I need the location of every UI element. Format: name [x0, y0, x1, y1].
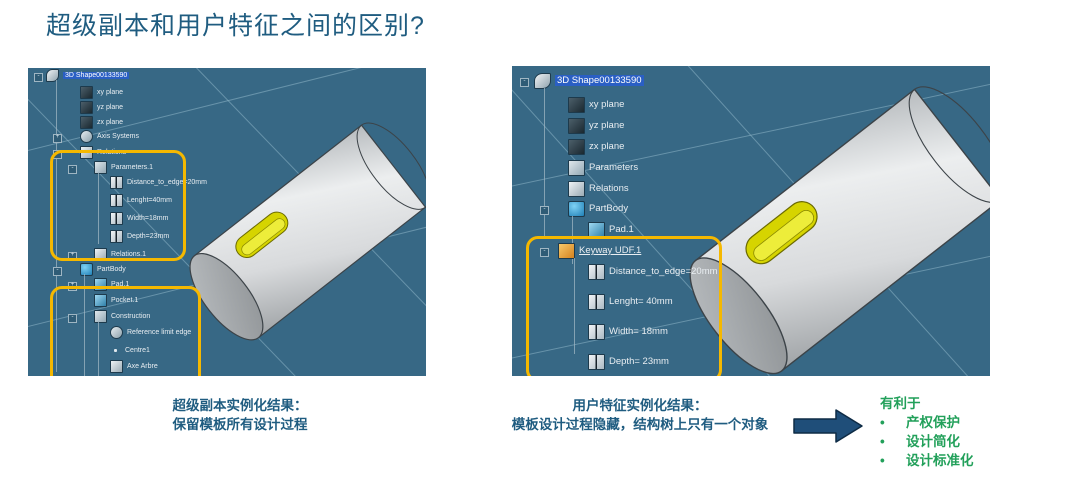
tree-item-label: Pocket.1	[111, 297, 138, 304]
tree-item-lenght[interactable]: Lenght=40mm	[110, 194, 172, 206]
tree-item-label: Width= 18mm	[609, 326, 668, 337]
tree-item-label: Parameters	[589, 162, 638, 173]
sketch-icon	[110, 376, 123, 377]
expand-toggle[interactable]: -	[68, 314, 77, 323]
tree-item-partbody[interactable]: PartBody	[568, 201, 628, 216]
tree-connector	[98, 172, 99, 244]
tree-item-relations-1[interactable]: Relations.1	[94, 248, 146, 260]
tree-item-parameters[interactable]: Parameters	[568, 160, 638, 175]
reference-icon	[110, 326, 123, 339]
benefits-heading: 有利于	[880, 394, 921, 413]
tree-item-label: Depth= 23mm	[609, 356, 669, 367]
tree-item-label: Lenght=40mm	[127, 197, 172, 204]
dimension-icon	[588, 324, 605, 340]
pad-icon	[94, 278, 107, 291]
tree-item-relations[interactable]: Relations	[80, 146, 126, 158]
tree-item-label: yz plane	[589, 120, 624, 131]
tree-root-node[interactable]: 3D Shape00133590	[46, 69, 129, 81]
axis-system-icon	[80, 130, 93, 143]
right-caption-line1: 用户特征实例化结果：	[460, 396, 820, 415]
page-title: 超级副本和用户特征之间的区别?	[46, 6, 425, 42]
tree-root-label: 3D Shape00133590	[555, 75, 644, 86]
line-icon	[110, 360, 123, 373]
plane-icon	[568, 139, 585, 155]
expand-toggle[interactable]: -	[53, 150, 62, 159]
tree-item-label: zx plane	[589, 141, 624, 152]
tree-connector	[84, 274, 85, 376]
tree-item-pocket-1[interactable]: Pocket.1	[94, 294, 138, 306]
tree-item-xy-plane[interactable]: xy plane	[80, 86, 123, 98]
tree-item-label: Pad.1	[111, 281, 129, 288]
plane-icon	[568, 97, 585, 113]
tree-item-xy-plane[interactable]: xy plane	[568, 97, 624, 112]
tree-item-label: Relations	[589, 183, 629, 194]
expand-toggle[interactable]: -	[520, 78, 529, 87]
right-arrow-icon	[792, 408, 864, 444]
partbody-icon	[568, 201, 585, 217]
tree-item-relations[interactable]: Relations	[568, 181, 629, 196]
expand-toggle[interactable]: -	[68, 165, 77, 174]
bullet-icon: •	[880, 432, 906, 451]
tree-item-label: Relations.1	[111, 251, 146, 258]
dimension-icon	[110, 230, 123, 243]
relations-icon	[80, 146, 93, 159]
dimension-icon	[110, 176, 123, 189]
tree-root-node[interactable]: 3D Shape00133590	[534, 73, 644, 88]
construction-icon	[94, 310, 107, 323]
tree-item-construction[interactable]: Construction	[94, 310, 150, 322]
tree-item-pad-1[interactable]: Pad.1	[94, 278, 129, 290]
expand-toggle[interactable]: -	[53, 267, 62, 276]
udf-icon	[558, 243, 575, 259]
expand-toggle[interactable]: +	[53, 134, 62, 143]
tree-item-label: Width=18mm	[127, 215, 168, 222]
tree-root-label: 3D Shape00133590	[63, 72, 129, 79]
tree-item-depth[interactable]: Depth=23mm	[110, 230, 169, 242]
pad-icon	[588, 222, 605, 238]
part-icon	[46, 69, 59, 82]
tree-item-distance-to-edge[interactable]: Distance_to_edge=20mm	[588, 264, 718, 279]
tree-item-centre1[interactable]: Centre1	[110, 344, 150, 356]
expand-toggle[interactable]: +	[68, 282, 77, 291]
benefit-label: 设计简化	[906, 432, 960, 451]
list-item: • 产权保护	[880, 413, 974, 432]
right-caption: 用户特征实例化结果： 模板设计过程隐藏，结构树上只有一个对象	[460, 396, 820, 434]
tree-connector	[544, 88, 545, 238]
tree-connector	[98, 321, 99, 376]
tree-item-label: Relations	[97, 149, 126, 156]
tree-item-distance-to-edge[interactable]: Distance_to_edge=20mm	[110, 176, 207, 188]
tree-item-label: Lenght= 40mm	[609, 296, 673, 307]
parameters-icon	[94, 161, 107, 174]
tree-item-label: Depth=23mm	[127, 233, 169, 240]
shaft-model[interactable]	[198, 128, 426, 376]
tree-connector	[574, 258, 575, 354]
dimension-icon	[110, 212, 123, 225]
bullet-icon: •	[880, 451, 906, 470]
benefits-list: • 产权保护 • 设计简化 • 设计标准化	[880, 413, 974, 470]
tree-connector	[56, 80, 57, 372]
tree-item-label: Construction	[111, 313, 150, 320]
expand-toggle[interactable]: +	[68, 252, 77, 261]
tree-item-zx-plane[interactable]: zx plane	[568, 139, 624, 154]
expand-toggle[interactable]: -	[540, 248, 549, 257]
tree-item-label: Centre1	[125, 347, 150, 354]
tree-item-label: Distance_to_edge=20mm	[609, 266, 718, 277]
parameters-icon	[568, 160, 585, 176]
tree-item-width[interactable]: Width=18mm	[110, 212, 168, 224]
part-icon	[534, 73, 551, 89]
tree-item-zx-plane[interactable]: zx plane	[80, 116, 123, 128]
tree-item-label: PartBody	[97, 266, 126, 273]
tree-item-keyway-udf-1[interactable]: Keyway UDF.1	[558, 243, 641, 258]
tree-item-parameters-1[interactable]: Parameters.1	[94, 161, 153, 173]
tree-item-axis-systems[interactable]: Axis Systems	[80, 130, 139, 142]
tree-item-depth[interactable]: Depth= 23mm	[588, 354, 669, 369]
tree-item-lenght[interactable]: Lenght= 40mm	[588, 294, 673, 309]
tree-item-label: Keyway UDF.1	[579, 245, 641, 256]
slide-root: 超级副本和用户特征之间的区别?	[0, 0, 1080, 481]
tree-item-label: zx plane	[97, 119, 123, 126]
tree-item-label: xy plane	[589, 99, 624, 110]
left-caption: 超级副本实例化结果： 保留模板所有设计过程	[80, 396, 400, 434]
right-caption-line2: 模板设计过程隐藏，结构树上只有一个对象	[460, 415, 820, 434]
dimension-icon	[110, 194, 123, 207]
tree-item-label: Axis Systems	[97, 133, 139, 140]
expand-toggle[interactable]: -	[540, 206, 549, 215]
tree-item-partbody[interactable]: PartBody	[80, 263, 126, 275]
left-caption-line2: 保留模板所有设计过程	[80, 415, 400, 434]
plane-icon	[80, 101, 93, 114]
bullet-icon: •	[880, 413, 906, 432]
list-item: • 设计简化	[880, 432, 974, 451]
tree-item-label: PartBody	[589, 203, 628, 214]
pocket-icon	[94, 294, 107, 307]
tree-item-pad-1[interactable]: Pad.1	[588, 222, 634, 237]
tree-item-label: Pad.1	[609, 224, 634, 235]
plane-icon	[80, 86, 93, 99]
right-cad-viewport[interactable]: - 3D Shape00133590 xy plane yz plane zx …	[512, 66, 990, 376]
tree-item-label: Parameters.1	[111, 164, 153, 171]
relations-icon	[94, 248, 107, 261]
shaft-model[interactable]	[707, 96, 990, 376]
tree-item-label: Axe Arbre	[127, 363, 158, 370]
left-caption-line1: 超级副本实例化结果：	[80, 396, 400, 415]
tree-item-label: yz plane	[97, 104, 123, 111]
tree-item-yz-plane[interactable]: yz plane	[568, 118, 624, 133]
benefit-label: 设计标准化	[906, 451, 974, 470]
tree-item-reference-limit-edge[interactable]: Reference limit edge	[110, 326, 191, 338]
left-cad-viewport[interactable]: - 3D Shape00133590 xy plane yz plane zx …	[28, 68, 426, 376]
plane-icon	[80, 116, 93, 129]
point-icon	[114, 349, 117, 352]
tree-item-label: xy plane	[97, 89, 123, 96]
list-item: • 设计标准化	[880, 451, 974, 470]
partbody-icon	[80, 263, 93, 276]
expand-toggle[interactable]: -	[34, 73, 43, 82]
relations-icon	[568, 181, 585, 197]
dimension-icon	[588, 354, 605, 370]
tree-item-label: Reference limit edge	[127, 329, 191, 336]
dimension-icon	[588, 294, 605, 310]
tree-item-label: Distance_to_edge=20mm	[127, 179, 207, 186]
tree-item-yz-plane[interactable]: yz plane	[80, 101, 123, 113]
tree-item-axe-arbre[interactable]: Axe Arbre	[110, 360, 158, 372]
tree-item-width[interactable]: Width= 18mm	[588, 324, 668, 339]
dimension-icon	[588, 264, 605, 280]
benefit-label: 产权保护	[906, 413, 960, 432]
plane-icon	[568, 118, 585, 134]
